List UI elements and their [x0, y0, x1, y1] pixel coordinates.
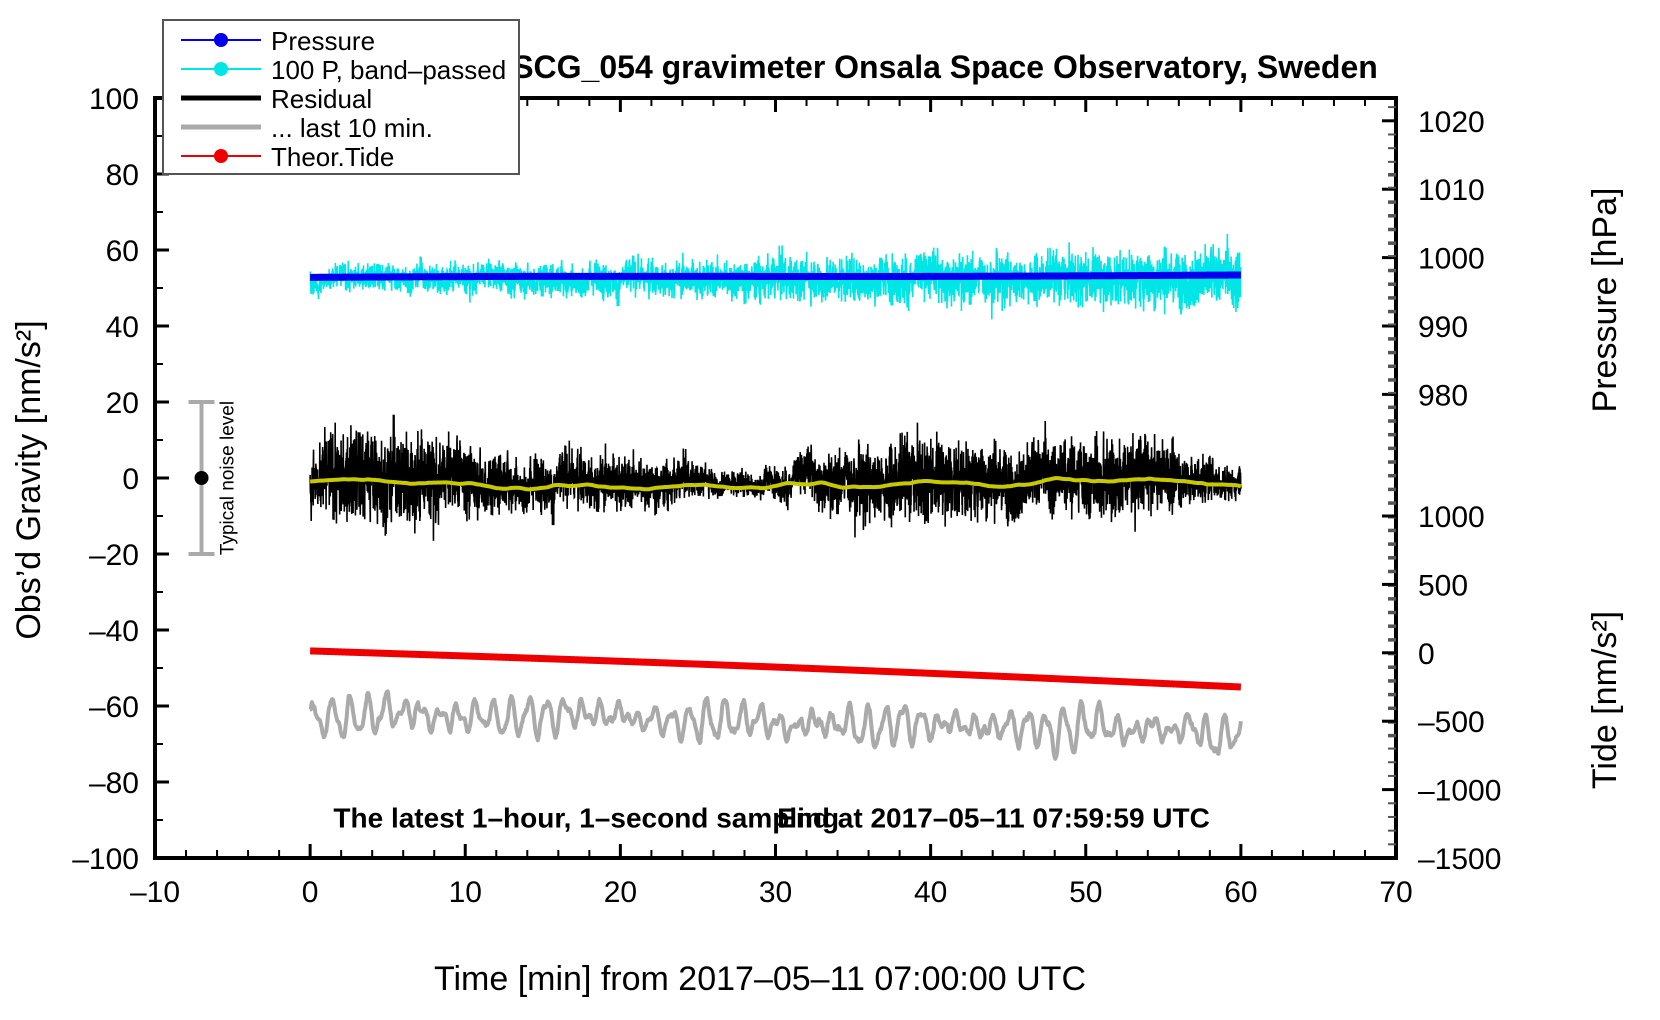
legend-swatch-marker [214, 149, 228, 163]
y-axis-title-pressure: Pressure [hPa] [1586, 188, 1624, 413]
y-axis-title-left: Obs’d Gravity [nm/s²] [10, 320, 48, 639]
typical-noise-level-label: Typical noise level [218, 401, 239, 555]
y-axis-tick-label: –80 [89, 767, 139, 800]
y-axis-tick-label: 20 [106, 387, 139, 420]
x-axis-tick-label: 10 [449, 876, 482, 909]
y-axis-title-tide: Tide [nm/s²] [1586, 611, 1624, 789]
pressure-axis-tick-label: 1000 [1418, 243, 1485, 276]
gravimeter-time-series-chart: –10010203040506070–100–80–60–40–20020406… [0, 0, 1660, 1020]
pressure-axis-tick-label: 990 [1418, 311, 1468, 344]
legend-item-label: Residual [271, 84, 372, 114]
series-pressure [310, 275, 1241, 277]
tide-axis-tick-label: –1000 [1418, 775, 1501, 808]
legend-item-label: Pressure [271, 26, 375, 56]
chart-legend: Pressure100 P, band–passedResidual... la… [163, 20, 519, 174]
y-axis-tick-label: –60 [89, 691, 139, 724]
pressure-axis-tick-label: 980 [1418, 379, 1468, 412]
tide-axis-tick-label: –500 [1418, 706, 1485, 739]
legend-item-label: ... last 10 min. [271, 113, 433, 143]
legend-item-label: Theor.Tide [271, 142, 394, 172]
y-axis-tick-label: 40 [106, 311, 139, 344]
x-axis-tick-label: 70 [1379, 876, 1412, 909]
pressure-axis-tick-label: 1010 [1418, 174, 1485, 207]
y-axis-tick-label: 0 [122, 463, 139, 496]
legend-swatch-marker [214, 62, 228, 76]
tide-axis-tick-label: 1000 [1418, 501, 1485, 534]
x-axis-tick-label: 30 [759, 876, 792, 909]
tide-axis-tick-label: –1500 [1418, 843, 1501, 876]
x-axis-tick-label: 60 [1224, 876, 1257, 909]
x-axis-tick-label: 0 [302, 876, 319, 909]
x-axis-tick-label: 50 [1069, 876, 1102, 909]
x-axis-title: Time [min] from 2017–05–11 07:00:00 UTC [434, 960, 1086, 998]
tide-axis-tick-label: 0 [1418, 638, 1435, 671]
y-axis-tick-label: 80 [106, 159, 139, 192]
y-axis-tick-label: –100 [72, 843, 139, 876]
sampling-note: The latest 1–hour, 1–second sampling [333, 803, 839, 834]
y-axis-tick-label: –40 [89, 615, 139, 648]
x-axis-tick-label: –10 [130, 876, 180, 909]
legend-item-label: 100 P, band–passed [271, 55, 506, 85]
x-axis-tick-label: 40 [914, 876, 947, 909]
legend-swatch-marker [214, 33, 228, 47]
tide-axis-tick-label: 500 [1418, 569, 1468, 602]
chart-page: –10010203040506070–100–80–60–40–20020406… [0, 0, 1660, 1020]
y-axis-tick-label: 60 [106, 235, 139, 268]
noise-bar-center-dot [195, 471, 209, 485]
x-axis-tick-label: 20 [604, 876, 637, 909]
end-time-note: End at 2017–05–11 07:59:59 UTC [777, 803, 1210, 834]
pressure-axis-tick-label: 1020 [1418, 106, 1485, 139]
y-axis-tick-label: 100 [89, 83, 139, 116]
page-title: SCG_054 gravimeter Onsala Space Observat… [512, 49, 1378, 85]
y-axis-tick-label: –20 [89, 539, 139, 572]
